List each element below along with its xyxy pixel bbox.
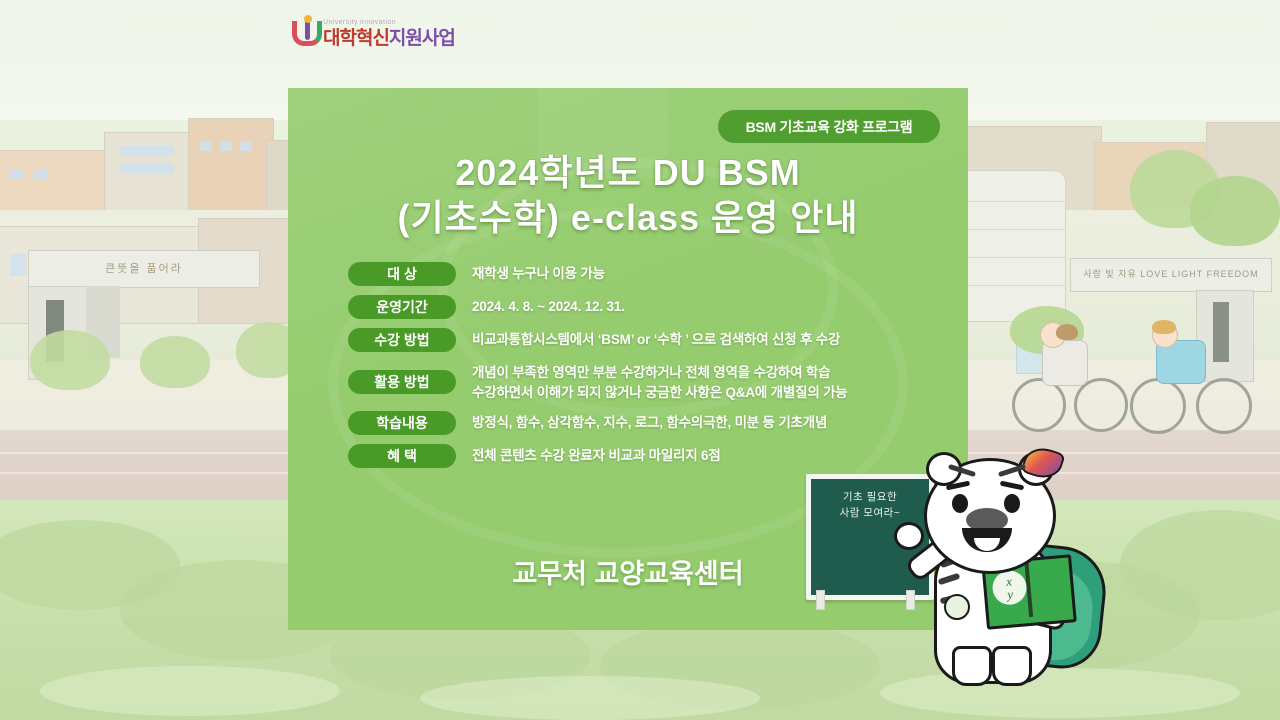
mascot-eye-left — [952, 494, 968, 513]
info-row-label: 대 상 — [348, 262, 456, 286]
info-row-list: 대 상재학생 누구나 이용 가능운영기간2024. 4. 8. ~ 2024. … — [348, 262, 958, 477]
info-row-value: 재학생 누구나 이용 가능 — [472, 262, 605, 284]
rider-hair — [1056, 324, 1078, 340]
info-row-value-line: 비교과통합시스템에서 ‘BSM’ or ‘수학 ’ 으로 검색하여 신청 후 수… — [472, 330, 840, 350]
poster-canvas: 큰뜻을 품어라 사랑 빛 자유 LOVE LIGHT FREEDOM — [0, 0, 1280, 720]
uj-logo-mark-icon — [292, 16, 318, 48]
tree — [140, 336, 210, 388]
window — [120, 164, 174, 173]
book-xy-label: xy — [991, 569, 1028, 606]
mascot-eye-right — [1004, 494, 1020, 513]
info-row-value-line: 2024. 4. 8. ~ 2024. 12. 31. — [472, 297, 625, 317]
info-row-label: 활용 방법 — [348, 370, 456, 394]
tree — [30, 330, 110, 390]
info-row: 학습내용방정식, 함수, 삼각함수, 지수, 로그, 함수의극한, 미분 등 기… — [348, 411, 958, 435]
info-row-value-line: 개념이 부족한 영역만 부분 수강하거나 전체 영역을 수강하여 학습 — [472, 363, 848, 383]
page-title: 2024학년도 DU BSM (기초수학) e-class 운영 안내 — [288, 150, 968, 241]
bicycle-wheel — [1130, 378, 1186, 434]
window — [200, 142, 212, 151]
title-line-2: (기초수학) e-class 운영 안내 — [288, 195, 968, 240]
window — [220, 142, 232, 151]
info-row-value: 2024. 4. 8. ~ 2024. 12. 31. — [472, 295, 625, 317]
info-row-value: 전체 콘텐츠 수강 완료자 비교과 마일리지 6점 — [472, 444, 721, 466]
info-row: 활용 방법개념이 부족한 영역만 부분 수강하거나 전체 영역을 수강하여 학습… — [348, 361, 958, 402]
chalkboard-leg — [816, 590, 825, 610]
window — [10, 254, 26, 276]
logo-korean-part2: 지원사업 — [389, 28, 455, 49]
white-tiger-mascot: xy — [900, 450, 1130, 710]
tree — [1190, 176, 1280, 246]
cyclist-1 — [1012, 320, 1132, 430]
window — [34, 170, 48, 180]
logo-english-text: University innovation — [323, 19, 455, 26]
info-row-label: 수강 방법 — [348, 328, 456, 352]
info-row-label: 학습내용 — [348, 411, 456, 435]
info-row: 수강 방법비교과통합시스템에서 ‘BSM’ or ‘수학 ’ 으로 검색하여 신… — [348, 328, 958, 352]
bicycle-wheel — [1074, 378, 1128, 432]
info-row-value: 개념이 부족한 영역만 부분 수강하거나 전체 영역을 수강하여 학습수강하면서… — [472, 361, 848, 402]
gate-left-text: 큰뜻을 품어라 — [29, 260, 259, 276]
info-row: 운영기간2024. 4. 8. ~ 2024. 12. 31. — [348, 295, 958, 319]
window — [120, 146, 174, 155]
window — [240, 142, 252, 151]
program-badge: BSM 기초교육 강화 프로그램 — [718, 110, 940, 143]
rider-hair — [1152, 320, 1176, 334]
cyclist-2 — [1130, 318, 1260, 430]
title-line-1: 2024학년도 DU BSM — [455, 152, 800, 193]
info-row: 혜 택전체 콘텐츠 수강 완료자 비교과 마일리지 6점 — [348, 444, 958, 468]
building — [188, 118, 274, 216]
grass-highlight — [40, 666, 340, 716]
info-row-value: 방정식, 함수, 삼각함수, 지수, 로그, 함수의극한, 미분 등 기초개념 — [472, 411, 827, 433]
grass-highlight — [420, 676, 760, 720]
info-row-value-line: 수강하면서 이해가 되지 않거나 궁금한 사항은 Q&A에 개별질의 가능 — [472, 383, 848, 403]
campus-gate-left: 큰뜻을 품어라 — [28, 250, 260, 288]
building — [0, 150, 112, 216]
logo-korean-part1: 대학혁신 — [323, 28, 389, 49]
mascot-leg-right — [992, 646, 1032, 686]
building — [104, 132, 196, 216]
info-row-value-line: 재학생 누구나 이용 가능 — [472, 264, 605, 284]
info-row: 대 상재학생 누구나 이용 가능 — [348, 262, 958, 286]
info-row-value-line: 전체 콘텐츠 수강 완료자 비교과 마일리지 6점 — [472, 446, 721, 466]
gate-right-text: 사랑 빛 자유 LOVE LIGHT FREEDOM — [1071, 267, 1271, 280]
info-row-label: 혜 택 — [348, 444, 456, 468]
mascot-paw — [894, 522, 924, 550]
bicycle-wheel — [1196, 378, 1252, 434]
program-badge-label: BSM 기초교육 강화 프로그램 — [746, 117, 913, 137]
university-innovation-logo: University innovation 대학혁신지원사업 — [292, 16, 455, 48]
info-row-value-line: 방정식, 함수, 삼각함수, 지수, 로그, 함수의극한, 미분 등 기초개념 — [472, 413, 827, 433]
info-row-label: 운영기간 — [348, 295, 456, 319]
campus-gate-right: 사랑 빛 자유 LOVE LIGHT FREEDOM — [1070, 258, 1272, 292]
bicycle-wheel — [1012, 378, 1066, 432]
mascot-medal — [944, 594, 970, 620]
info-row-value: 비교과통합시스템에서 ‘BSM’ or ‘수학 ’ 으로 검색하여 신청 후 수… — [472, 328, 840, 350]
window — [10, 170, 24, 180]
mascot-leg-left — [952, 646, 992, 686]
